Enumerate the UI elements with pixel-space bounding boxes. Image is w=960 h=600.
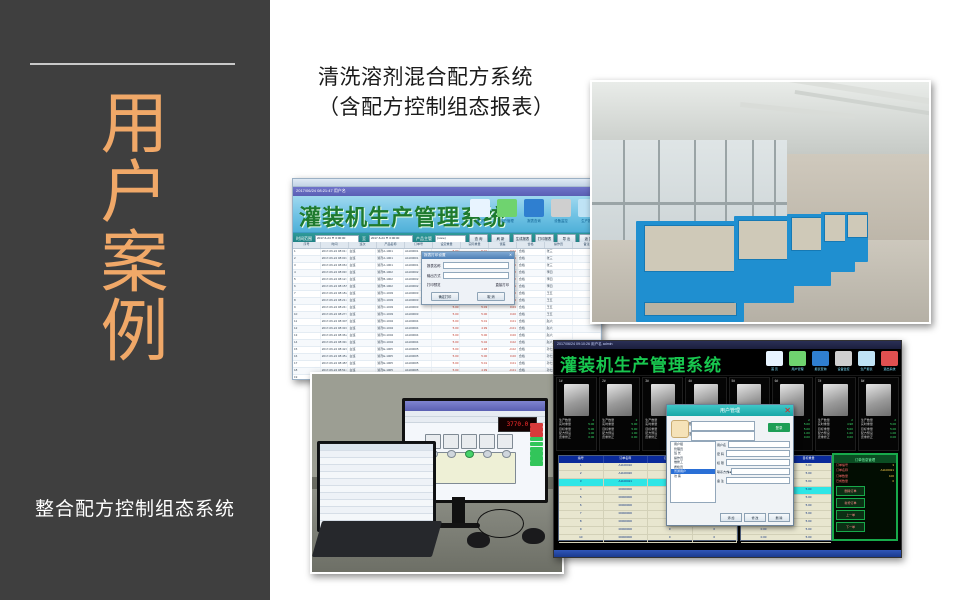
dialog-field1-input[interactable] [443, 262, 509, 269]
users-icon-label: 用户管理 [788, 367, 807, 371]
sidebar-subtitle: 整合配方控制组态系统 [0, 494, 270, 521]
report-icon[interactable]: 报表查询 [523, 199, 545, 223]
machine-image [823, 384, 848, 416]
table-cell: 5 [293, 277, 321, 283]
order-action-button-1[interactable]: 新增订单 [836, 498, 865, 508]
machine-number: 8# [861, 379, 896, 383]
table-row[interactable]: 122017-06-24 08:33:09白班溶剂D-1004A11000045… [293, 326, 601, 333]
slide: 用 户 案 例 整合配方控制组态系统 清洗溶剂混合配方系统 （含配方控制组态报表… [0, 0, 960, 600]
machine-image [607, 384, 632, 416]
table-cell: 溶剂C-1003 [376, 298, 404, 304]
machine-stat: 皮重修正0.00 [559, 435, 594, 439]
table-cell: 合格 [518, 291, 546, 297]
table-cell: 5.01 [460, 319, 489, 325]
order-column-header-0: 编号 [559, 456, 604, 463]
table-cell: 5.02 [460, 340, 489, 346]
hmi-icon-bar[interactable]: 首 页用户管理报表查询设备监控生产报表退出系统 [765, 351, 899, 371]
machine-card[interactable]: 7#生产数量2实时重量4.98目标重量5.00配方预设1.00皮重修正0.00 [815, 377, 856, 451]
order-table-cell: 5 [559, 495, 604, 502]
table-cell: 合格 [518, 312, 546, 318]
device-icon[interactable]: 设备监控 [834, 351, 853, 371]
close-icon[interactable]: ✕ [509, 253, 512, 257]
table-cell: -0.01 [489, 326, 518, 332]
table-cell: 白班 [348, 249, 376, 255]
table-cell: 合格 [518, 319, 546, 325]
users-icon-glyph [789, 351, 806, 366]
table-cell: 17 [293, 361, 321, 367]
machine-card[interactable]: 1#生产数量2实时重量5.00目标重量5.00配方预设1.00皮重修正0.00 [556, 377, 597, 451]
table-cell: A1100004 [404, 319, 432, 325]
table-cell: 16 [293, 354, 321, 360]
home-icon-label: 首 页 [765, 367, 784, 371]
table-cell: 5.00 [460, 354, 489, 360]
password-input[interactable] [691, 431, 755, 441]
table-cell: 白班 [348, 284, 376, 290]
table-cell [573, 326, 601, 332]
table-cell: 合格 [518, 326, 546, 332]
chart-icon-label: 生产报表 [857, 367, 876, 371]
table-cell: 赵六 [546, 326, 574, 332]
table-cell: 白班 [348, 326, 376, 332]
machine-card[interactable]: 2#生产数量2实时重量5.00目标重量5.00配方预设1.00皮重修正0.00 [599, 377, 640, 451]
machine-stat-value: 0.00 [588, 435, 594, 439]
print-settings-dialog[interactable]: 报表打印设置 ✕ 报表名称 输出方式 打印预览 直接打印 确定打印 取 消 [421, 251, 515, 305]
table-cell: 5.00 [432, 340, 461, 346]
order-info-panel[interactable]: 订单信息管理 订单编号3订单名称A1100021订单数量100已成数量0 删除订… [832, 453, 898, 541]
order-info-value: 0 [892, 479, 894, 484]
tank-4 [479, 434, 495, 449]
table-cell: 合格 [518, 305, 546, 311]
table-cell: 张三 [546, 263, 574, 269]
machine-stat: 皮重修正0.00 [602, 435, 637, 439]
print-button[interactable]: 确定打印 [431, 292, 459, 301]
page-title: 清洗溶剂混合配方系统 （含配方控制组态报表） [318, 62, 618, 123]
exit-icon-label: 退出系统 [880, 367, 899, 371]
mouse-2 [522, 528, 545, 544]
user-group-item[interactable]: 访 客 [671, 474, 715, 479]
hmi-screenshot[interactable]: 2017/06/24 09:10:26 用户名 admin 灌装机生产管理系统 … [553, 340, 902, 558]
vtitle-char-0: 用 [0, 90, 270, 159]
table-cell: 0.02 [489, 340, 518, 346]
order-action-button-0[interactable]: 删除订单 [836, 486, 865, 496]
table-cell: 白班 [348, 298, 376, 304]
order-info-rows: 订单编号3订单名称A1100021订单数量100已成数量0 [834, 463, 896, 484]
user-fields[interactable]: 用户名admin密 码●●●●●权 限●●●●●联系方式●●●●●备 注 [717, 441, 790, 503]
table-cell: 张三 [546, 256, 574, 262]
user-management-dialog[interactable]: 用户管理 ✕ 账号 密码 登录 用户组管理员班 长操作员维修工质检员普通用户访 … [666, 404, 794, 526]
table-cell: 14 [293, 340, 321, 346]
report-icon-label: 报表查询 [523, 218, 545, 223]
table-cell: 5.00 [432, 361, 461, 367]
user-field-input[interactable]: ●●●●● [726, 459, 790, 466]
table-cell: 2017-06-24 08:39:44 [321, 340, 349, 346]
machine-number: 6# [775, 379, 810, 383]
window-titlebar [293, 179, 601, 187]
laptop-keyboard [312, 521, 442, 557]
table-cell: 9 [293, 305, 321, 311]
table-cell: 合格 [518, 298, 546, 304]
table-cell: 溶剂A-1001 [376, 256, 404, 262]
tank-2 [443, 434, 459, 449]
home-icon[interactable]: 首 页 [469, 199, 491, 223]
order-table-row[interactable]: 90000000000 [559, 527, 737, 535]
table-cell: 李四 [546, 277, 574, 283]
sidebar-divider [30, 63, 235, 65]
column-header-3: 产品名称 [377, 242, 405, 248]
laptop [317, 441, 436, 532]
table-cell: 白班 [348, 270, 376, 276]
dialog-field2-input[interactable] [443, 272, 509, 279]
order-info-buttons[interactable]: 删除订单新增订单上一单下一单 [834, 484, 896, 534]
order-table-cell: 7 [559, 511, 604, 518]
table-cell: 李四 [546, 284, 574, 290]
table-cell: 溶剂D-1004 [376, 326, 404, 332]
table-cell: 溶剂B-1002 [376, 270, 404, 276]
table-cell: 白班 [348, 340, 376, 346]
login-button[interactable]: 登录 [768, 423, 790, 432]
order-table-cell: A1100020 [604, 471, 649, 478]
user-field-row[interactable]: 备 注 [717, 477, 790, 484]
dialog-field1-label: 报表名称 [427, 263, 441, 268]
table-cell: 合格 [518, 256, 546, 262]
tank-3 [461, 434, 477, 449]
users-icon[interactable]: 用户管理 [788, 351, 807, 371]
hmi-window-menu: 2017/06/24 09:10:26 用户名 admin [554, 341, 901, 349]
table-row[interactable]: 92017-06-24 08:24:10白班溶剂C-1003A11000035.… [293, 305, 601, 312]
table-cell: 4 [293, 270, 321, 276]
table-cell: 白班 [348, 263, 376, 269]
control-room-photo [590, 80, 931, 324]
machine-number: 4# [688, 379, 723, 383]
table-cell: 7 [293, 291, 321, 297]
machine-stat-label: 皮重修正 [818, 435, 830, 439]
order-action-button-3[interactable]: 下一单 [836, 522, 865, 532]
machine-image [866, 384, 891, 416]
table-cell: 2017-06-24 08:45:29 [321, 354, 349, 360]
column-header-0: 序号 [293, 242, 321, 248]
machine-number: 1# [559, 379, 594, 383]
machine-stat-value: 0.00 [847, 435, 853, 439]
user-field-label: 密 码 [717, 452, 724, 456]
order-table-cell: 0 [693, 527, 738, 534]
table-row[interactable]: 102017-06-24 08:27:33白班溶剂C-1003A11000035… [293, 312, 601, 319]
status-light-2 [530, 427, 543, 432]
laptop-screen [320, 444, 433, 529]
table-cell: 2017-06-24 08:18:22 [321, 291, 349, 297]
machine-stat-value: 0.00 [631, 435, 637, 439]
dialog-radio2[interactable]: 直接打印 [495, 282, 509, 287]
table-cell: 5.00 [460, 312, 489, 318]
weight-table-cell: 5.00 [786, 527, 831, 534]
table-cell: 0.03 [489, 305, 518, 311]
table-cell: 2 [293, 256, 321, 262]
table-cell: 5.03 [460, 305, 489, 311]
app-header: 灌装机生产管理系统 首 页用户管理报表查询设备监控生产报表 [293, 196, 601, 233]
control-console-5 [845, 212, 869, 262]
table-cell: 0.01 [489, 319, 518, 325]
console-panel-1 [644, 225, 737, 271]
table-cell: 赵六 [546, 333, 574, 339]
table-cell: 5.00 [432, 354, 461, 360]
table-cell: 2017-06-24 08:21:47 [321, 298, 349, 304]
avatar [671, 420, 689, 438]
dialog-field-row-1[interactable]: 报表名称 [427, 262, 509, 269]
table-cell: 白班 [348, 256, 376, 262]
workstation-photo: 3770.0 [310, 372, 564, 574]
order-column-header-1: 订单名称 [604, 456, 649, 463]
console-buttons-1 [644, 302, 737, 316]
table-cell: 0.00 [489, 312, 518, 318]
table-cell: 王五 [546, 298, 574, 304]
machine-image [564, 384, 589, 416]
table-cell: 溶剂C-1003 [376, 312, 404, 318]
order-table-cell: 00000000 [604, 487, 649, 494]
table-cell: 溶剂B-1002 [376, 284, 404, 290]
vtitle-char-3: 例 [0, 298, 270, 367]
table-cell: 0.00 [489, 333, 518, 339]
table-cell: 5.01 [460, 361, 489, 367]
sidebar: 用 户 案 例 整合配方控制组态系统 [0, 0, 270, 600]
order-table-cell: 00000000 [604, 495, 649, 502]
user-field-row[interactable]: 用户名admin [717, 441, 790, 448]
table-cell: A1100005 [404, 354, 432, 360]
user-field-label: 权 限 [717, 461, 724, 465]
table-cell: -0.02 [489, 347, 518, 353]
dialog-titlebar: 报表打印设置 ✕ [422, 252, 514, 259]
app-icon-bar[interactable]: 首 页用户管理报表查询设备监控生产报表 [469, 199, 599, 223]
order-table-cell: 4 [559, 487, 604, 494]
machine-number: 3# [645, 379, 680, 383]
status-light-9 [530, 461, 543, 466]
column-header-6: 实际重量 [461, 242, 489, 248]
machine-number: 5# [732, 379, 767, 383]
column-header-5: 设定重量 [433, 242, 461, 248]
user-field-input[interactable]: ●●●●● [726, 450, 790, 457]
table-cell: 合格 [518, 347, 546, 353]
machine-number: 7# [818, 379, 853, 383]
user-field-row[interactable]: 权 限●●●●● [717, 459, 790, 466]
console-panel-5 [847, 214, 869, 238]
order-table-cell: 2 [559, 471, 604, 478]
table-cell: 溶剂B-1002 [376, 277, 404, 283]
order-table-cell: 00000000 [604, 511, 649, 518]
device-icon-glyph [835, 351, 852, 366]
user-field-value [727, 488, 728, 492]
user-field-input[interactable]: admin [728, 441, 790, 448]
order-info-label: 已成数量 [836, 479, 848, 484]
table-cell: 合格 [518, 354, 546, 360]
status-light-4 [530, 437, 543, 442]
device-icon-glyph [551, 199, 571, 217]
mouse-cable [477, 509, 524, 539]
order-table-cell: 00000000 [604, 503, 649, 510]
table-cell: A1100005 [404, 347, 432, 353]
order-table-cell: 0 [693, 535, 738, 542]
table-cell: 白班 [348, 291, 376, 297]
table-cell: 溶剂D-1004 [376, 340, 404, 346]
report-icon-label: 报表查询 [811, 367, 830, 371]
machine-stat: 皮重修正0.00 [861, 435, 896, 439]
table-cell: 2017-06-24 08:36:27 [321, 333, 349, 339]
machine-card[interactable]: 8#生产数量2实时重量5.00目标重量5.00配方预设1.00皮重修正0.00 [858, 377, 899, 451]
report-icon[interactable]: 报表查询 [811, 351, 830, 371]
vtitle-char-1: 户 [0, 159, 270, 228]
status-light-7 [530, 451, 543, 456]
user-field-label: 联系方式 [717, 470, 729, 474]
table-cell: 2017-06-24 08:33:09 [321, 326, 349, 332]
column-header-8: 合格 [517, 242, 545, 248]
user-action-button-0[interactable]: 添 加 [720, 513, 742, 522]
weight-table-cell: 0.00 [741, 527, 786, 534]
cancel-button[interactable]: 取 消 [477, 292, 505, 301]
table-cell: A1100004 [404, 340, 432, 346]
user-dialog-title: 用户管理 [720, 407, 740, 414]
weight-table-row[interactable]: 0.005.00 [741, 535, 831, 543]
dialog-radio-row[interactable]: 打印预览 直接打印 [427, 282, 509, 287]
order-table-cell: 8 [559, 519, 604, 526]
table-cell: 3 [293, 263, 321, 269]
control-console-1 [636, 221, 744, 322]
table-cell: 溶剂E-1005 [376, 361, 404, 367]
control-console-2 [734, 216, 795, 302]
order-table-cell: 00000000 [604, 519, 649, 526]
weight-table-row[interactable]: 0.005.00 [741, 527, 831, 535]
table-cell: 4.98 [460, 347, 489, 353]
home-icon-label: 首 页 [469, 218, 491, 223]
table-cell: 8 [293, 298, 321, 304]
order-table-cell: 9 [559, 527, 604, 534]
dialog-title: 报表打印设置 [424, 253, 446, 257]
dialog-buttons[interactable]: 确定打印 取 消 [422, 292, 514, 301]
exit-icon-glyph [881, 351, 898, 366]
window-sill [592, 202, 787, 205]
table-cell: A1100005 [404, 361, 432, 367]
order-table-cell: 00000000 [604, 535, 649, 542]
table-cell: 白班 [348, 277, 376, 283]
dialog-field2-label: 输出方式 [427, 273, 441, 278]
table-cell: 13 [293, 333, 321, 339]
table-cell: 0.01 [489, 361, 518, 367]
table-cell: 溶剂C-1003 [376, 291, 404, 297]
user-dialog-titlebar: 用户管理 ✕ [667, 405, 793, 416]
exit-icon[interactable]: 退出系统 [880, 351, 899, 371]
device-icon-label: 设备监控 [834, 367, 853, 371]
user-action-button-2[interactable]: 删 除 [768, 513, 790, 522]
table-cell: 合格 [518, 340, 546, 346]
user-action-button-1[interactable]: 修 改 [744, 513, 766, 522]
dialog-radio1[interactable]: 打印预览 [427, 282, 441, 287]
order-table-row[interactable]: 100000000000 [559, 535, 737, 543]
table-cell: 5.00 [432, 305, 461, 311]
table-row[interactable]: 132017-06-24 08:36:27白班溶剂D-1004A11000045… [293, 333, 601, 340]
table-cell: 2017-06-24 08:30:51 [321, 319, 349, 325]
column-header-1: 时间 [321, 242, 349, 248]
table-cell: 王五 [546, 305, 574, 311]
monitor-base [437, 523, 480, 529]
order-action-button-2[interactable]: 上一单 [836, 510, 865, 520]
dialog-field-row-2[interactable]: 输出方式 [427, 272, 509, 279]
status-light-6 [530, 447, 543, 452]
table-cell: 白班 [348, 347, 376, 353]
table-cell: 6 [293, 284, 321, 290]
hmi-header: 灌装机生产管理系统 首 页用户管理报表查询设备监控生产报表退出系统 [554, 349, 901, 376]
table-cell: 白班 [348, 361, 376, 367]
users-icon-glyph [497, 199, 517, 217]
table-cell: 溶剂C-1003 [376, 305, 404, 311]
table-cell: 5.00 [432, 333, 461, 339]
order-table-cell: 3 [559, 479, 604, 486]
table-cell: 2017-06-24 08:09:31 [321, 270, 349, 276]
table-cell: 张三 [546, 249, 574, 255]
status-light-1 [530, 423, 543, 428]
close-icon[interactable]: ✕ [784, 405, 791, 416]
table-cell: 15 [293, 347, 321, 353]
order-info-title: 订单信息管理 [834, 455, 896, 463]
table-cell: 2017-06-24 08:15:56 [321, 284, 349, 290]
table-cell: 白班 [348, 312, 376, 318]
home-icon-glyph [766, 351, 783, 366]
table-cell: 白班 [348, 333, 376, 339]
user-field-input[interactable] [726, 477, 790, 484]
table-cell: 10 [293, 312, 321, 318]
table-row[interactable]: 112017-06-24 08:30:51白班溶剂D-1004A11000045… [293, 319, 601, 326]
table-header-row: 序号时间班次产品名称订单号设定重量实际重量误差合格操作员备注 [293, 242, 601, 249]
taskbar[interactable] [554, 550, 901, 557]
to-label: 至 [362, 236, 366, 242]
user-group-tree[interactable]: 用户组管理员班 长操作员维修工质检员普通用户访 客 [670, 441, 716, 503]
device-icon[interactable]: 设备监控 [550, 199, 572, 223]
table-cell: 1 [293, 249, 321, 255]
table-cell: 5.00 [432, 326, 461, 332]
home-icon[interactable]: 首 页 [765, 351, 784, 371]
weight-table-cell: 5.00 [786, 535, 831, 542]
hmi-app-title: 灌装机生产管理系统 [560, 351, 722, 376]
machine-stat-label: 皮重修正 [559, 435, 571, 439]
user-field-label: 备 注 [717, 479, 724, 483]
user-field-input[interactable]: ●●●●● [731, 468, 790, 475]
table-cell: 合格 [518, 270, 546, 276]
table-cell: 2017-06-24 08:12:18 [321, 277, 349, 283]
table-cell: 合格 [518, 277, 546, 283]
user-dialog-buttons[interactable]: 添 加修 改删 除 [720, 513, 790, 522]
user-field-row[interactable]: 密 码●●●●● [717, 450, 790, 457]
order-table-cell: A1100021 [604, 479, 649, 486]
machine-stat: 皮重修正0.00 [818, 435, 853, 439]
table-cell: 2017-06-24 08:48:51 [321, 361, 349, 367]
machine-stat-label: 皮重修正 [602, 435, 614, 439]
order-table-cell: 1 [559, 463, 604, 470]
hmi-titlebar [405, 401, 545, 411]
table-cell: 合格 [518, 361, 546, 367]
table-cell: 4.99 [460, 326, 489, 332]
table-cell: 溶剂E-1005 [376, 354, 404, 360]
machine-stat-value: 0.00 [890, 435, 896, 439]
users-icon[interactable]: 用户管理 [496, 199, 518, 223]
table-cell [573, 333, 601, 339]
weight-table-cell: 0.00 [741, 535, 786, 542]
table-cell: 白班 [348, 305, 376, 311]
home-icon-glyph [470, 199, 490, 217]
table-cell: 2017-06-24 08:42:06 [321, 347, 349, 353]
monitor-stand [452, 497, 465, 525]
page-title-line1: 清洗溶剂混合配方系统 [318, 62, 618, 92]
valve-5 [502, 450, 511, 458]
chart-icon[interactable]: 生产报表 [857, 351, 876, 371]
report-icon-glyph [812, 351, 829, 366]
table-cell: 5.00 [432, 312, 461, 318]
column-header-2: 班次 [349, 242, 377, 248]
account-input[interactable] [691, 421, 755, 431]
